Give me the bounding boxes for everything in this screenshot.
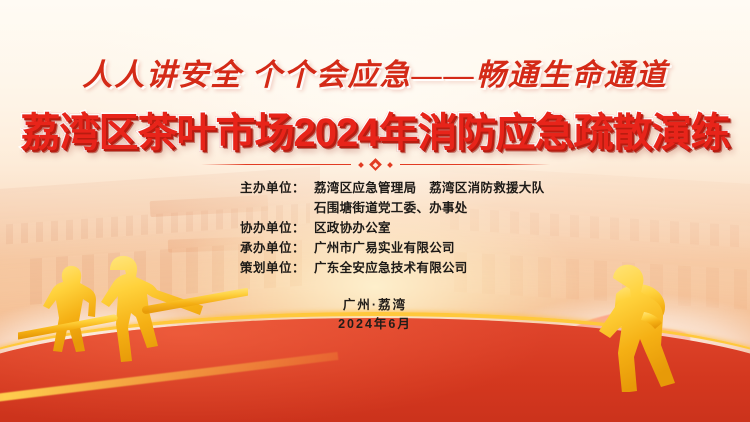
organizer-row: 策划单位： 广东全安应急技术有限公司 <box>227 257 523 276</box>
organizer-value: 广东全安应急技术有限公司 <box>305 257 468 276</box>
organizer-row: 主办单位： 荔湾区应急管理局 荔湾区消防救援大队 <box>227 177 523 196</box>
divider-line-right <box>400 164 550 166</box>
organizer-label: 策划单位： <box>227 257 305 276</box>
organizer-label: 承办单位： <box>227 237 305 256</box>
organizer-row: 承办单位： 广州市广易实业有限公司 <box>227 237 523 256</box>
divider-line-left <box>201 164 351 166</box>
footer-date: 2024年6月 <box>0 315 750 334</box>
organizer-value: 广州市广易实业有限公司 <box>305 237 455 256</box>
divider-dot-right <box>387 162 393 168</box>
fire-drill-poster: 人人讲安全 个个会应急——畅通生命通道 荔湾区茶叶市场2024年消防应急疏散演练… <box>0 0 750 422</box>
organizer-value: 荔湾区应急管理局 荔湾区消防救援大队 <box>305 177 544 196</box>
organizer-value: 石围塘街道党工委、办事处 <box>305 197 468 216</box>
organizer-label: 主办单位： <box>227 177 305 196</box>
poster-footer: 广州·荔湾 2024年6月 <box>0 296 750 335</box>
diamond-ornament-divider <box>0 160 750 169</box>
poster-main-title: 荔湾区茶叶市场2024年消防应急疏散演练 <box>0 100 750 158</box>
organizer-row: 主办单位： 石围塘街道党工委、办事处 <box>227 197 523 216</box>
poster-slogan: 人人讲安全 个个会应急——畅通生命通道 <box>0 50 750 94</box>
main-title-text: 荔湾区茶叶市场2024年消防应急疏散演练 <box>21 111 730 155</box>
organizer-value: 区政协办公室 <box>305 217 391 236</box>
divider-diamond-icon <box>369 158 382 171</box>
organizer-label: 协办单位： <box>227 217 305 236</box>
organizer-list: 主办单位： 荔湾区应急管理局 荔湾区消防救援大队 主办单位： 石围塘街道党工委、… <box>0 177 750 277</box>
organizer-row: 协办单位： 区政协办公室 <box>227 217 523 236</box>
divider-dot-left <box>358 162 364 168</box>
footer-location: 广州·荔湾 <box>0 296 750 315</box>
